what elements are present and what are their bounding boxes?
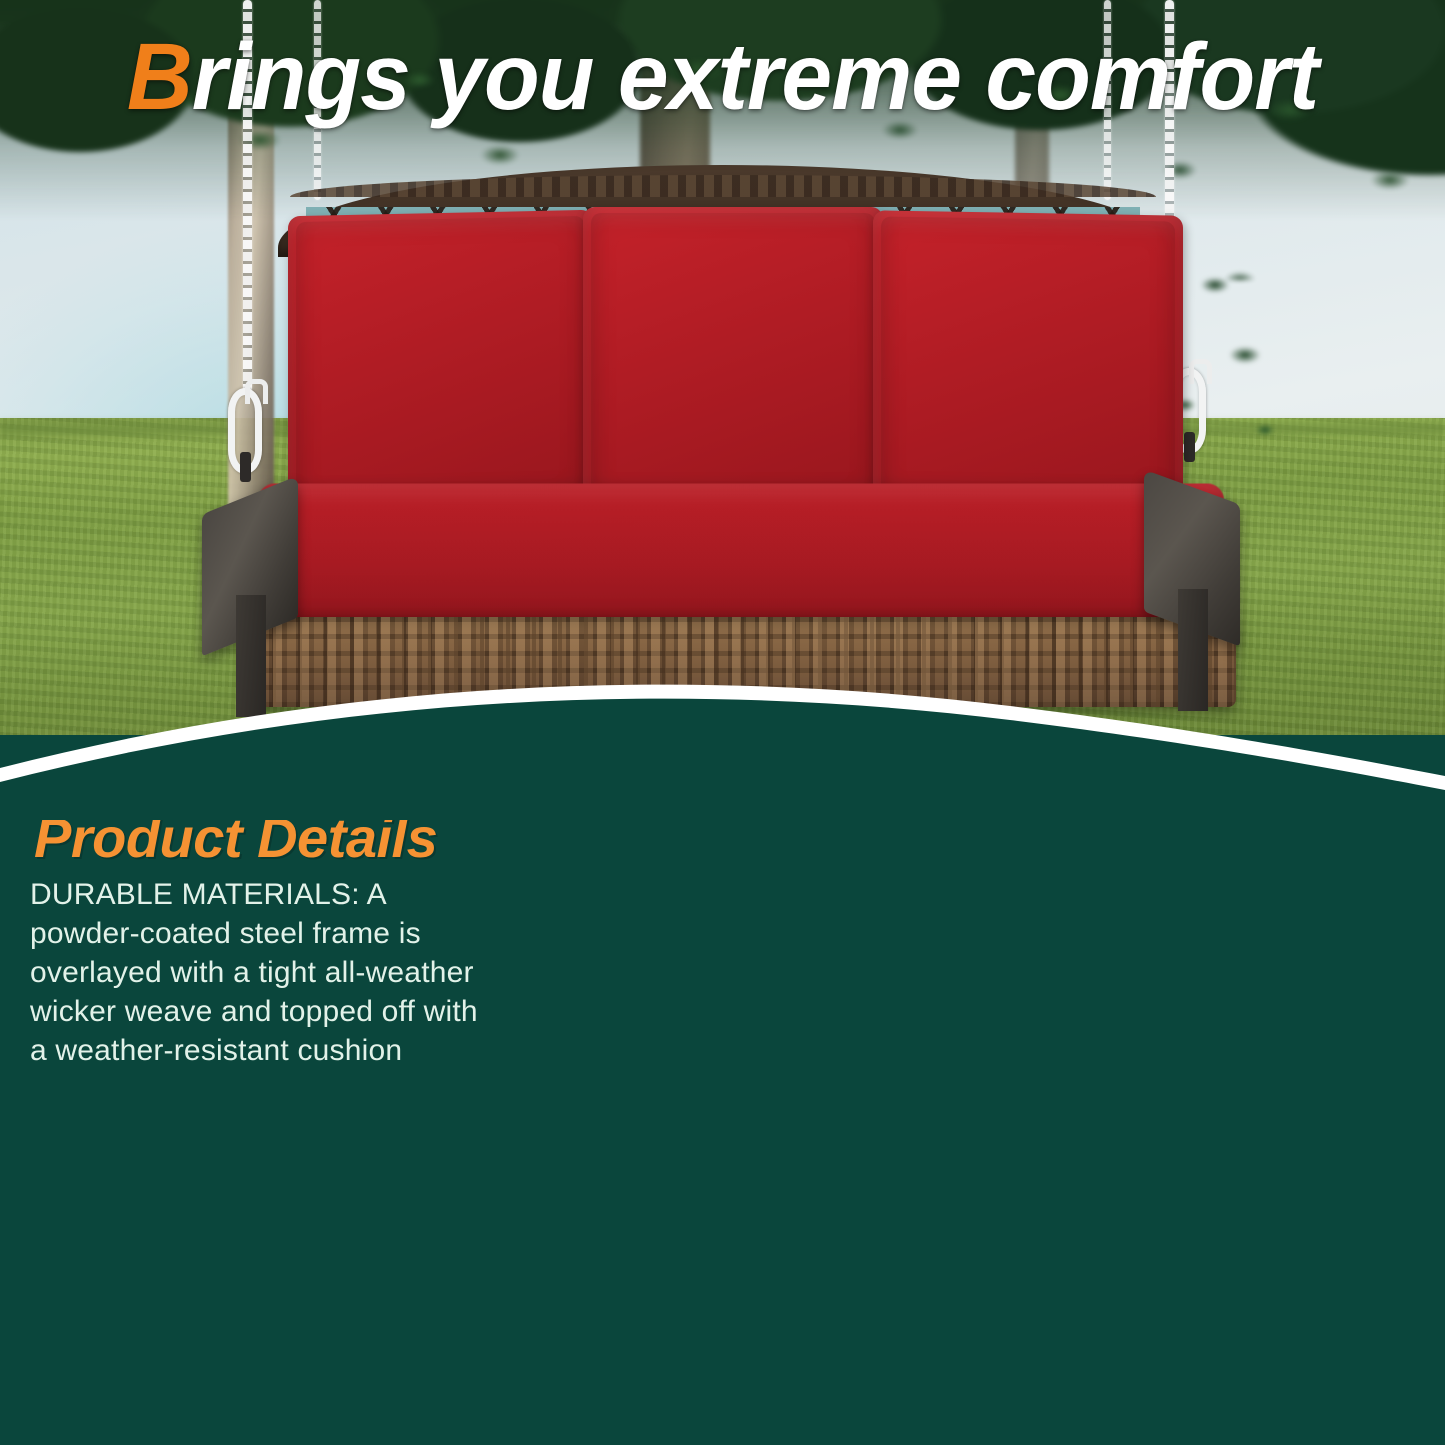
porch-swing [178,165,1268,705]
hero-headline: Brings you extreme comfort [29,28,1416,128]
product-details-panel: Product Details DURABLE MATERIALS: A pow… [0,735,1445,1445]
curved-section-divider [0,660,1445,820]
back-pillow-right [873,210,1183,515]
divider-green-fill [0,699,1445,820]
product-details-body: DURABLE MATERIALS: A powder-coated steel… [30,875,482,1070]
headline-initial-cap: B [127,24,192,130]
seat-cushion [253,484,1228,632]
back-pillow-left [288,210,593,516]
headline-text: rings you extreme comfort [192,24,1318,130]
product-infographic: Brings you extreme comfort Product Detai… [0,0,1445,1445]
back-pillow-center [583,207,883,512]
